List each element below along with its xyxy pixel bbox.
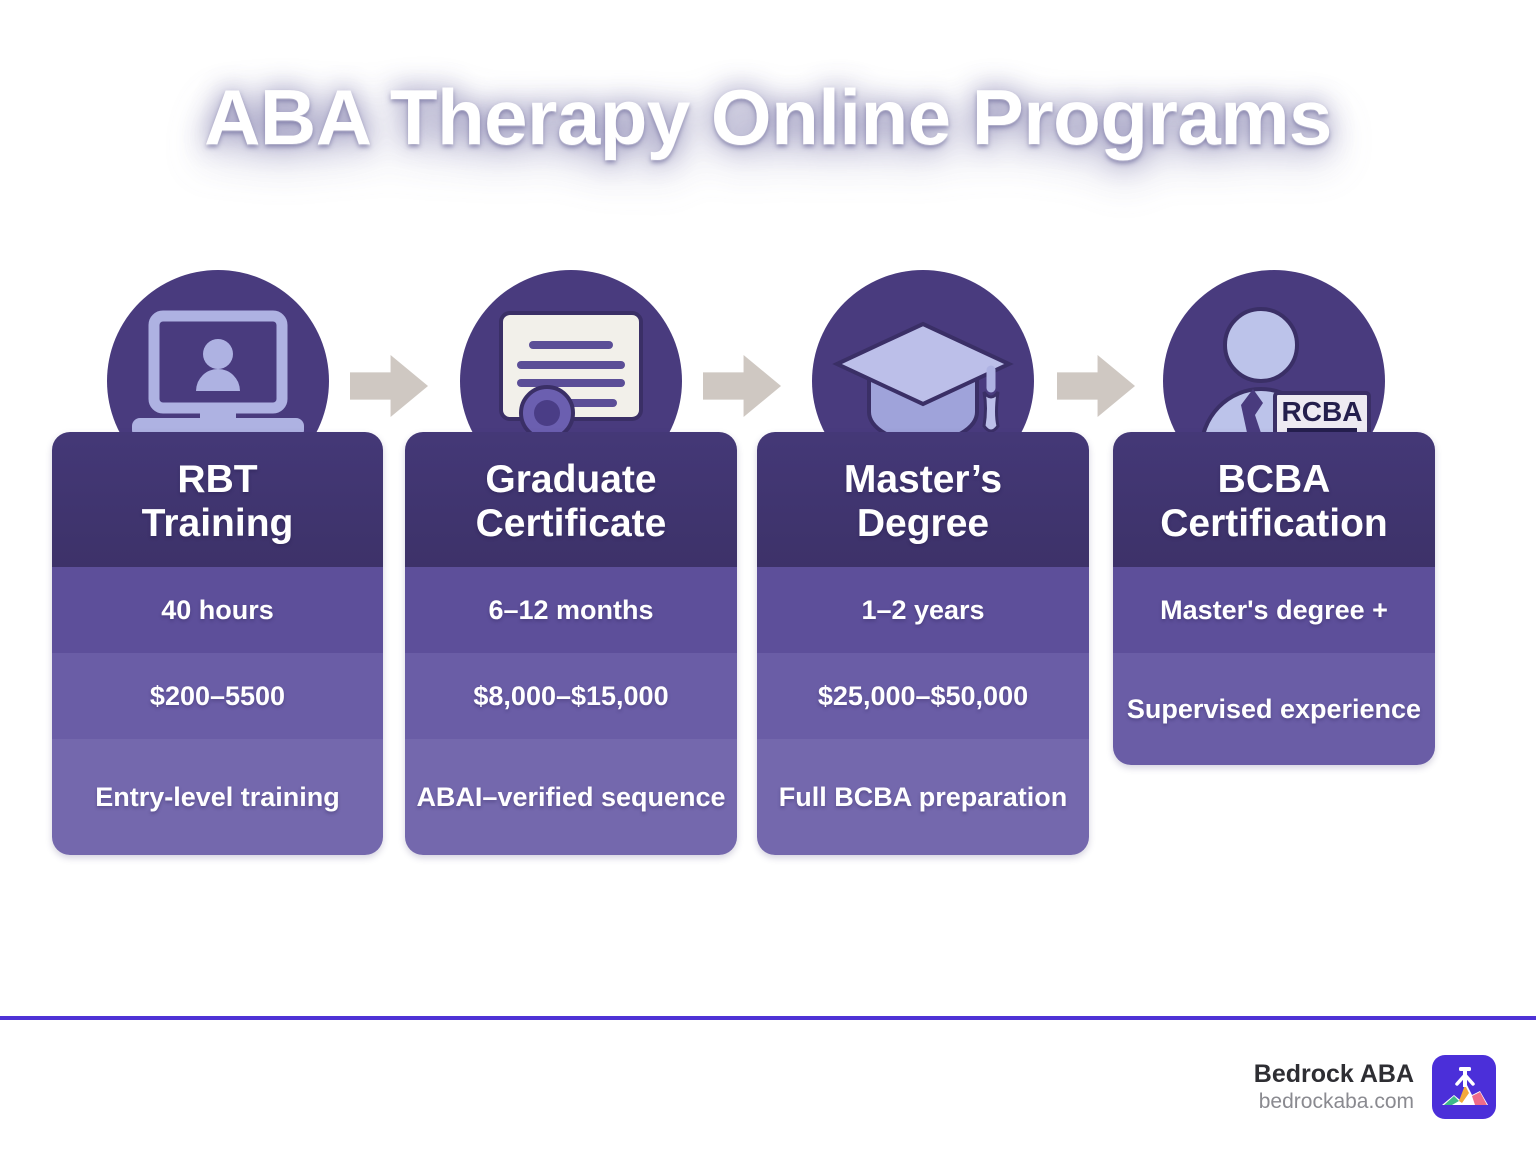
stage-card: Graduate Certificate 6–12 months $8,000–… bbox=[405, 432, 737, 855]
arrow-right-icon bbox=[350, 355, 428, 417]
stage-detail-cost: $8,000–$15,000 bbox=[405, 653, 737, 739]
stage-title-line2: Certificate bbox=[476, 502, 667, 545]
footer: Bedrock ABA bedrockaba.com bbox=[1254, 1055, 1496, 1119]
program-flow: RBT Training 40 hours $200–5500 Entry-le… bbox=[0, 0, 1536, 1000]
stage-card: RBT Training 40 hours $200–5500 Entry-le… bbox=[52, 432, 383, 855]
stage-title-line1: BCBA bbox=[1218, 458, 1331, 501]
stage-title-line2: Degree bbox=[857, 502, 989, 545]
stage-title: Master’s Degree bbox=[757, 432, 1089, 567]
stage-detail-note: ABAI–verified sequence bbox=[405, 739, 737, 855]
stage-detail-cost: $200–5500 bbox=[52, 653, 383, 739]
stage-title: RBT Training bbox=[52, 432, 383, 567]
stage-detail-duration: 1–2 years bbox=[757, 567, 1089, 653]
stage-card: Master’s Degree 1–2 years $25,000–$50,00… bbox=[757, 432, 1089, 855]
stage-title-line1: RBT bbox=[177, 458, 257, 501]
stage-title-line2: Certification bbox=[1160, 502, 1388, 545]
stage-detail-duration: 6–12 months bbox=[405, 567, 737, 653]
stage-detail-note: Full BCBA preparation bbox=[757, 739, 1089, 855]
stage-detail-note: Entry-level training bbox=[52, 739, 383, 855]
stage-detail-experience: Supervised experience bbox=[1113, 653, 1435, 765]
stage-title: BCBA Certification bbox=[1113, 432, 1435, 567]
stage-title-line1: Master’s bbox=[844, 458, 1002, 501]
stage-detail-duration: 40 hours bbox=[52, 567, 383, 653]
footer-text: Bedrock ABA bedrockaba.com bbox=[1254, 1059, 1414, 1116]
stage-title-line2: Training bbox=[142, 502, 294, 545]
brand-website[interactable]: bedrockaba.com bbox=[1254, 1089, 1414, 1115]
stage-detail-cost: $25,000–$50,000 bbox=[757, 653, 1089, 739]
arrow-right-icon bbox=[703, 355, 781, 417]
bedrock-mountain-logo bbox=[1432, 1055, 1496, 1119]
brand-name: Bedrock ABA bbox=[1254, 1059, 1414, 1090]
footer-divider bbox=[0, 1016, 1536, 1020]
stage-card: BCBA Certification Master's degree + Sup… bbox=[1113, 432, 1435, 765]
stage-title-line1: Graduate bbox=[485, 458, 656, 501]
arrow-right-icon bbox=[1057, 355, 1135, 417]
rcba-badge-label: RCBA bbox=[1282, 396, 1363, 427]
stage-title: Graduate Certificate bbox=[405, 432, 737, 567]
stage-detail-requirement: Master's degree + bbox=[1113, 567, 1435, 653]
